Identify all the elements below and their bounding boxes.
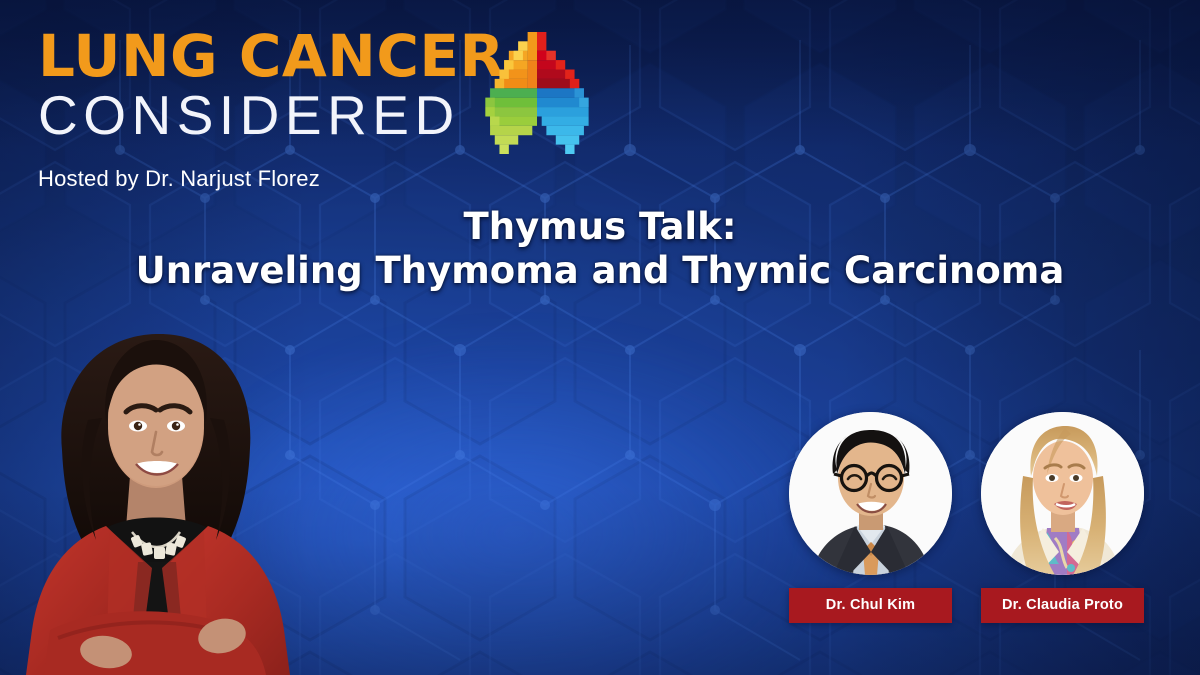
guest-card: Dr. Claudia Proto bbox=[981, 412, 1144, 623]
podcast-episode-card: LUNG CANCER CONSIDERED bbox=[0, 0, 1200, 675]
episode-title: Thymus Talk: Unraveling Thymoma and Thym… bbox=[0, 206, 1200, 292]
episode-title-line1: Thymus Talk: bbox=[0, 206, 1200, 247]
guest-avatar bbox=[789, 412, 952, 575]
episode-title-line2: Unraveling Thymoma and Thymic Carcinoma bbox=[0, 250, 1200, 291]
pixelated-lungs-icon bbox=[476, 32, 598, 154]
brand-name-line1: LUNG CANCER bbox=[38, 28, 468, 85]
host-tagline: Hosted by Dr. Narjust Florez bbox=[38, 166, 598, 192]
guest-name-badge: Dr. Chul Kim bbox=[789, 588, 952, 623]
host-portrait bbox=[10, 300, 300, 675]
guest-card: Dr. Chul Kim bbox=[789, 412, 952, 623]
brand-name-line2: CONSIDERED bbox=[38, 87, 468, 143]
brand-logo: LUNG CANCER CONSIDERED bbox=[38, 28, 598, 192]
guest-name-badge: Dr. Claudia Proto bbox=[981, 588, 1144, 623]
guest-avatar bbox=[981, 412, 1144, 575]
